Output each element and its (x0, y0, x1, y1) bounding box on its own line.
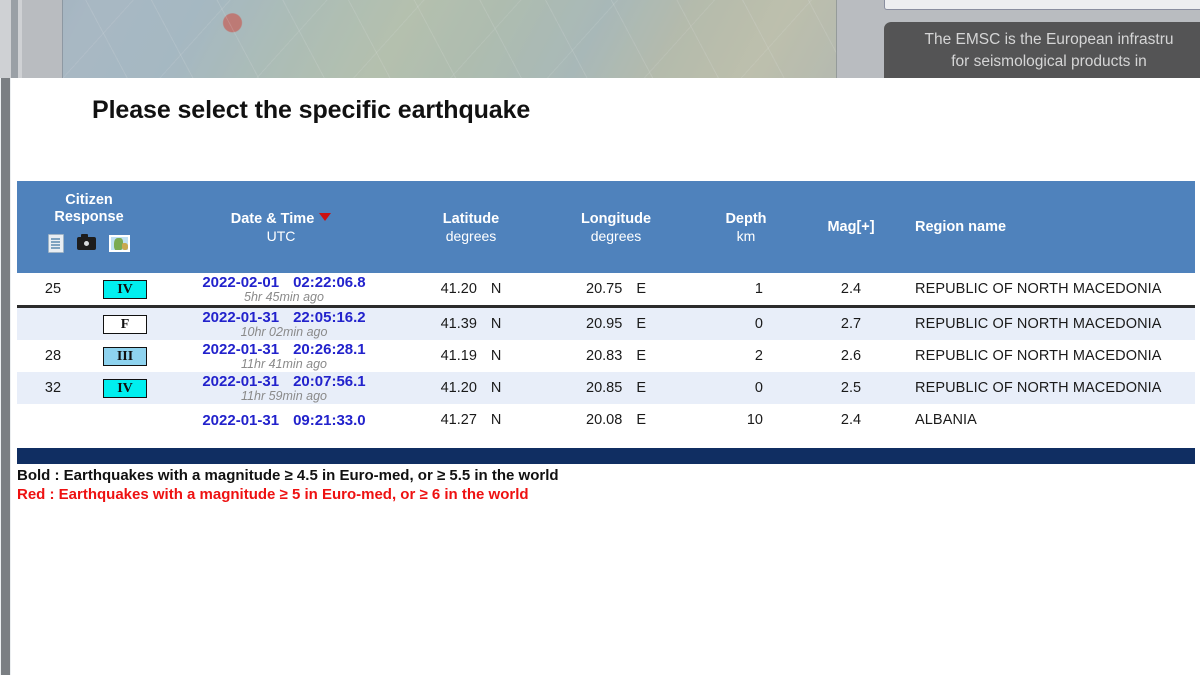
event-date: 2022-01-31 (202, 373, 279, 390)
sort-descending-arrow-icon[interactable] (319, 213, 331, 221)
table-row[interactable]: 28III2022-01-3120:26:28.111hr 41min ago4… (17, 340, 1195, 372)
citizen-response-label-line2: Response (17, 209, 161, 226)
cell-citizen-count[interactable]: 25 (17, 273, 89, 307)
table-row[interactable]: 2022-01-3109:21:33.041.27N20.08E102.4ALB… (17, 404, 1195, 436)
table-row[interactable]: 25IV2022-02-0102:22:06.85hr 45min ago41.… (17, 273, 1195, 307)
event-date: 2022-02-01 (202, 274, 279, 291)
cell-date-time[interactable]: 2022-02-0102:22:06.85hr 45min ago (161, 273, 401, 307)
latitude-value: 41.27 (441, 412, 477, 428)
latitude-hemisphere: N (491, 348, 501, 364)
date-time-label: Date & Time (231, 211, 315, 227)
depth-sublabel: km (691, 228, 801, 244)
event-date: 2022-01-31 (202, 341, 279, 358)
longitude-value: 20.08 (586, 412, 622, 428)
longitude-value: 20.83 (586, 348, 622, 364)
cell-intensity-badge[interactable]: IV (89, 273, 161, 307)
longitude-hemisphere: E (636, 380, 646, 396)
column-header-longitude[interactable]: Longitude degrees (541, 181, 691, 273)
cell-longitude: 20.75E (541, 273, 691, 307)
cell-magnitude: 2.7 (801, 307, 901, 341)
column-header-date-time[interactable]: Date & Time UTC (161, 181, 401, 273)
intensity-badge[interactable]: IV (103, 280, 147, 299)
cell-depth: 2 (691, 340, 801, 372)
intensity-badge[interactable]: III (103, 347, 147, 366)
legend-bold-line: Bold : Earthquakes with a magnitude ≥ 4.… (17, 466, 917, 485)
cell-depth: 1 (691, 273, 801, 307)
event-time-ago: 10hr 02min ago (167, 325, 401, 339)
table-footer-bar (17, 448, 1195, 464)
cell-region-name: REPUBLIC OF NORTH MACEDONIA (901, 273, 1195, 307)
event-date: 2022-01-31 (202, 412, 279, 429)
cell-date-time[interactable]: 2022-01-3109:21:33.0 (161, 404, 401, 436)
cell-citizen-count[interactable] (17, 404, 89, 436)
longitude-value: 20.95 (586, 316, 622, 332)
longitude-hemisphere: E (636, 412, 646, 428)
event-date-time[interactable]: 2022-01-3120:07:56.1 (202, 373, 365, 390)
cell-intensity-badge[interactable]: F (89, 307, 161, 341)
cell-region-name: REPUBLIC OF NORTH MACEDONIA (901, 307, 1195, 341)
table-row[interactable]: F2022-01-3122:05:16.210hr 02min ago41.39… (17, 307, 1195, 341)
latitude-hemisphere: N (491, 380, 501, 396)
cell-citizen-count[interactable]: 28 (17, 340, 89, 372)
cell-longitude: 20.85E (541, 372, 691, 404)
cell-intensity-badge[interactable]: IV (89, 372, 161, 404)
legend-red-line: Red : Earthquakes with a magnitude ≥ 5 i… (17, 485, 917, 504)
longitude-hemisphere: E (636, 281, 646, 297)
event-date-time[interactable]: 2022-01-3122:05:16.2 (202, 309, 365, 326)
latitude-value-wrap: 41.39N (441, 316, 502, 332)
magnitude-legend: Bold : Earthquakes with a magnitude ≥ 4.… (17, 466, 917, 504)
longitude-hemisphere: E (636, 348, 646, 364)
page-scrollbar[interactable] (0, 78, 11, 675)
latitude-hemisphere: N (491, 281, 501, 297)
screen-root: The EMSC is the European infrastru for s… (0, 0, 1200, 675)
map-frame-border (62, 0, 837, 80)
longitude-label: Longitude (581, 211, 651, 227)
magnitude-label: Mag[+] (827, 219, 874, 235)
emsc-tooltip-line1: The EMSC is the European infrastru (884, 29, 1200, 51)
cell-date-time[interactable]: 2022-01-3120:26:28.111hr 41min ago (161, 340, 401, 372)
background-page: The EMSC is the European infrastru for s… (0, 0, 1200, 90)
cell-region-name: REPUBLIC OF NORTH MACEDONIA (901, 340, 1195, 372)
column-header-magnitude[interactable]: Mag[+] (801, 181, 901, 273)
table-header: Citizen Response Date & Time UTC (17, 181, 1195, 273)
event-time: 20:26:28.1 (293, 341, 366, 358)
latitude-value: 41.20 (441, 380, 477, 396)
event-time: 20:07:56.1 (293, 373, 366, 390)
table-body: 25IV2022-02-0102:22:06.85hr 45min ago41.… (17, 273, 1195, 436)
event-time-ago: 11hr 41min ago (167, 357, 401, 371)
cell-intensity-badge[interactable]: III (89, 340, 161, 372)
cell-magnitude: 2.4 (801, 273, 901, 307)
latitude-hemisphere: N (491, 316, 501, 332)
table-row[interactable]: 32IV2022-01-3120:07:56.111hr 59min ago41… (17, 372, 1195, 404)
cell-latitude: 41.27N (401, 404, 541, 436)
depth-label: Depth (725, 211, 766, 227)
longitude-hemisphere: E (636, 316, 646, 332)
event-date-time[interactable]: 2022-01-3109:21:33.0 (202, 412, 365, 429)
cell-longitude: 20.83E (541, 340, 691, 372)
longitude-value-wrap: 20.83E (586, 348, 646, 364)
cell-citizen-count[interactable]: 32 (17, 372, 89, 404)
column-header-region[interactable]: Region name (901, 181, 1195, 273)
background-left-edge (0, 0, 22, 90)
longitude-sublabel: degrees (541, 228, 691, 244)
event-date-time[interactable]: 2022-01-3120:26:28.1 (202, 341, 365, 358)
latitude-hemisphere: N (491, 412, 501, 428)
intensity-badge[interactable]: IV (103, 379, 147, 398)
cell-magnitude: 2.6 (801, 340, 901, 372)
document-report-icon[interactable] (48, 234, 64, 253)
cell-region-name: REPUBLIC OF NORTH MACEDONIA (901, 372, 1195, 404)
longitude-value: 20.85 (586, 380, 622, 396)
event-date: 2022-01-31 (202, 309, 279, 326)
latitude-value-wrap: 41.20N (441, 281, 502, 297)
latitude-label: Latitude (443, 211, 499, 227)
background-side-panel (884, 0, 1200, 10)
earthquake-table: Citizen Response Date & Time UTC (17, 181, 1195, 436)
cell-magnitude: 2.5 (801, 372, 901, 404)
column-header-latitude[interactable]: Latitude degrees (401, 181, 541, 273)
date-time-sublabel: UTC (161, 228, 401, 244)
page-title: Please select the specific earthquake (92, 96, 530, 125)
longitude-value: 20.75 (586, 281, 622, 297)
cell-depth: 0 (691, 372, 801, 404)
cell-date-time[interactable]: 2022-01-3122:05:16.210hr 02min ago (161, 307, 401, 341)
latitude-value-wrap: 41.19N (441, 348, 502, 364)
latitude-value: 41.19 (441, 348, 477, 364)
event-date-time[interactable]: 2022-02-0102:22:06.8 (202, 274, 365, 291)
event-time: 09:21:33.0 (293, 412, 366, 429)
cell-date-time[interactable]: 2022-01-3120:07:56.111hr 59min ago (161, 372, 401, 404)
citizen-response-icon-row (17, 234, 161, 253)
column-header-citizen-response[interactable]: Citizen Response (17, 181, 161, 273)
intensity-badge[interactable]: F (103, 315, 147, 334)
cell-citizen-count[interactable] (17, 307, 89, 341)
cell-latitude: 41.39N (401, 307, 541, 341)
longitude-value-wrap: 20.95E (586, 316, 646, 332)
map-thumbnail-icon[interactable] (109, 235, 130, 252)
cell-region-name: ALBANIA (901, 404, 1195, 436)
cell-depth: 0 (691, 307, 801, 341)
page-scrollbar-thumb[interactable] (1, 78, 10, 675)
event-time: 02:22:06.8 (293, 274, 366, 291)
citizen-response-label-line1: Citizen (17, 192, 161, 209)
cell-latitude: 41.20N (401, 372, 541, 404)
event-time-ago: 11hr 59min ago (167, 389, 401, 403)
cell-latitude: 41.20N (401, 273, 541, 307)
latitude-value: 41.20 (441, 281, 477, 297)
latitude-value: 41.39 (441, 316, 477, 332)
emsc-tooltip-line2: for seismological products in (884, 51, 1200, 73)
longitude-value-wrap: 20.75E (586, 281, 646, 297)
event-time-ago: 5hr 45min ago (167, 290, 401, 304)
latitude-value-wrap: 41.27N (441, 412, 502, 428)
latitude-sublabel: degrees (401, 228, 541, 244)
table-header-row: Citizen Response Date & Time UTC (17, 181, 1195, 273)
longitude-value-wrap: 20.85E (586, 380, 646, 396)
cell-longitude: 20.95E (541, 307, 691, 341)
cell-intensity-badge[interactable] (89, 404, 161, 436)
camera-icon[interactable] (77, 237, 96, 250)
cell-magnitude: 2.4 (801, 404, 901, 436)
event-time: 22:05:16.2 (293, 309, 366, 326)
earthquake-selection-modal: Please select the specific earthquake Ci… (11, 78, 1200, 675)
region-label: Region name (915, 219, 1006, 235)
cell-latitude: 41.19N (401, 340, 541, 372)
column-header-depth[interactable]: Depth km (691, 181, 801, 273)
longitude-value-wrap: 20.08E (586, 412, 646, 428)
latitude-value-wrap: 41.20N (441, 380, 502, 396)
cell-depth: 10 (691, 404, 801, 436)
cell-longitude: 20.08E (541, 404, 691, 436)
